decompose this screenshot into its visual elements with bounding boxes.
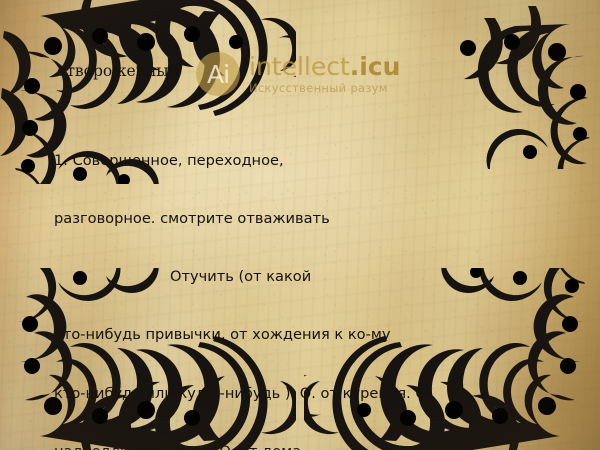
page-vignette	[0, 0, 600, 450]
scanned-dictionary-page: Ai intellect.icu Искусственный разум отв…	[0, 0, 600, 450]
